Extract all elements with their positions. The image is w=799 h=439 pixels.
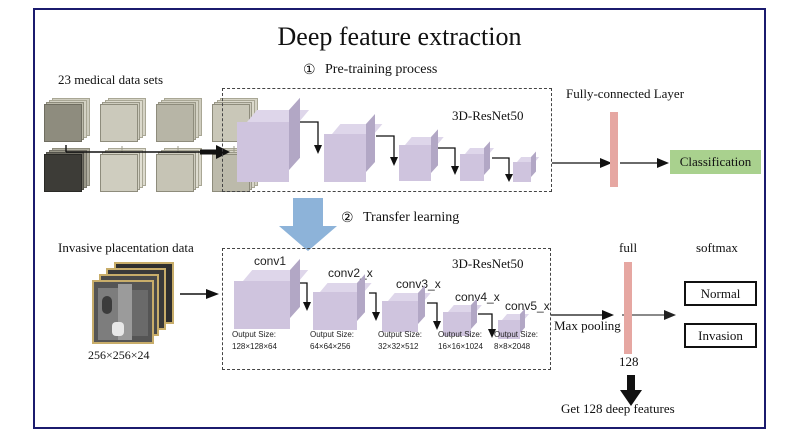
stage2-fc-bar [624,262,632,354]
max-pooling-label: Max pooling [554,318,621,334]
stage2-fc-label: full [619,240,637,256]
softmax-label: softmax [696,240,738,256]
figure-canvas: Deep feature extraction ① Pre-training p… [0,0,799,439]
footer-label: Get 128 deep features [561,401,675,417]
stage2-block-connectors [0,0,799,439]
class-output-normal: Normal [684,281,757,306]
class-output-invasion: Invasion [684,323,757,348]
stage2-fc-dim: 128 [619,354,639,370]
